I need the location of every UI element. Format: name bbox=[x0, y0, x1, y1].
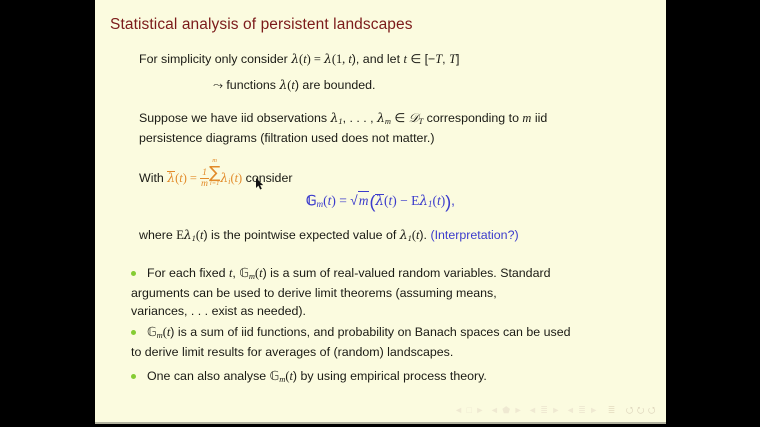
nav-prev-frame-button[interactable]: ◄ ⬟ ► bbox=[490, 405, 523, 416]
text-segment: ) is the pointwise expected value of bbox=[203, 228, 399, 242]
text-segment: to derive limit results for averages of … bbox=[131, 345, 453, 359]
text-segment: functions bbox=[223, 78, 279, 92]
beamer-navigation-bar[interactable]: ◄ □ ►◄ ⬟ ►◄ ≣ ►◄ ≣ ►≣⭯ ⭮ ⭯ bbox=[95, 403, 666, 419]
lambda-bar-symbol: λ bbox=[167, 171, 175, 184]
text-segment: ) are bounded. bbox=[295, 78, 376, 92]
text-segment: , . . . , bbox=[343, 111, 377, 125]
list-item: 𝔾m(t) is a sum of iid functions, and pro… bbox=[131, 324, 646, 362]
bullet-dot-icon bbox=[131, 271, 136, 276]
text-segment: where bbox=[139, 228, 176, 242]
list-item: One can also analyse 𝔾m(t) by using empi… bbox=[131, 368, 646, 388]
text-segment: (1, bbox=[332, 52, 349, 66]
text-segment: ) is a sum of real-valued random variabl… bbox=[263, 266, 551, 280]
nav-back-button[interactable]: ◄ ≣ ► bbox=[528, 405, 561, 416]
slide-bottom-divider bbox=[95, 422, 666, 424]
text-segment: ) is a sum of iid functions, and probabi… bbox=[170, 325, 570, 339]
mean-landscape-formula: λ(t) = 1mm∑i=1λi(t) bbox=[167, 171, 242, 185]
lambda-symbol: λ bbox=[324, 51, 332, 66]
fraction-one-over-m: 1m bbox=[200, 168, 209, 189]
square-root: √m bbox=[350, 191, 369, 209]
paragraph-observations: Suppose we have iid observations λ1, . .… bbox=[139, 109, 639, 147]
slide-viewer: Statistical analysis of persistent lands… bbox=[0, 0, 760, 427]
paragraph-simplicity: For simplicity only consider λ(t) = λ(1,… bbox=[139, 50, 639, 68]
lambda-symbol: λ bbox=[419, 193, 428, 209]
lambda-symbol: λ bbox=[291, 51, 299, 66]
display-equation-Gm: 𝔾m(t) = √m(λ(t) − Eλ1(t)), bbox=[95, 191, 666, 213]
list-item-text: For each fixed t, 𝔾m(t) is a sum of real… bbox=[131, 265, 641, 320]
nav-forward-button[interactable]: ◄ ≣ ► bbox=[566, 405, 599, 416]
text-segment: ∈ bbox=[391, 111, 409, 125]
squiggly-arrow-icon: ⤳ bbox=[213, 78, 223, 92]
text-segment: ) − bbox=[392, 193, 411, 208]
text-segment: ) = bbox=[307, 52, 324, 66]
lambda-symbol: λ bbox=[400, 227, 408, 242]
text-segment: persistence diagrams (filtration used do… bbox=[139, 131, 434, 145]
list-item-text: One can also analyse 𝔾m(t) by using empi… bbox=[131, 368, 646, 388]
nav-search-button[interactable]: ⭯ ⭮ ⭯ bbox=[626, 403, 656, 419]
list-item: For each fixed t, 𝔾m(t) is a sum of real… bbox=[131, 265, 641, 320]
blackboard-G-symbol: 𝔾 bbox=[306, 193, 316, 208]
lambda-symbol: λ bbox=[220, 170, 228, 185]
text-segment: ) by using empirical process theory. bbox=[293, 369, 487, 383]
diagram-space-symbol: 𝒟 bbox=[409, 111, 419, 125]
text-segment: With bbox=[139, 171, 167, 185]
text-segment: ] bbox=[456, 52, 459, 66]
interpretation-note: (Interpretation?) bbox=[430, 228, 518, 242]
text-segment: For each fixed bbox=[131, 266, 229, 280]
paragraph-expected-value: where Eλ1(t) is the pointwise expected v… bbox=[139, 226, 659, 247]
mouse-cursor-icon bbox=[256, 178, 264, 190]
page-title: Statistical analysis of persistent lands… bbox=[110, 16, 413, 34]
text-segment: ) = bbox=[331, 193, 350, 208]
presentation-slide: Statistical analysis of persistent lands… bbox=[95, 0, 666, 423]
text-segment: ) = bbox=[183, 171, 200, 185]
text-segment: arguments can be used to derive limit th… bbox=[131, 286, 497, 300]
paragraph-with-mean: With λ(t) = 1mm∑i=1λi(t) consider bbox=[139, 158, 292, 190]
text-segment: consider bbox=[242, 171, 292, 185]
expectation-operator: E bbox=[176, 228, 184, 242]
nav-doc-button[interactable]: ≣ bbox=[608, 405, 616, 416]
lambda-symbol: λ bbox=[377, 110, 385, 125]
blackboard-G-symbol: 𝔾 bbox=[239, 266, 249, 280]
text-segment: variances, . . . exist as needed). bbox=[131, 304, 306, 318]
bullet-dot-icon bbox=[131, 374, 136, 379]
text-segment: iid bbox=[531, 111, 547, 125]
nav-first-slide-button[interactable]: ◄ □ ► bbox=[454, 405, 485, 415]
text-segment: ), and let bbox=[352, 52, 404, 66]
lambda-bar-symbol: λ bbox=[375, 194, 384, 209]
bullet-dot-icon bbox=[131, 330, 136, 335]
list-item-text: 𝔾m(t) is a sum of iid functions, and pro… bbox=[131, 324, 646, 362]
text-segment: Suppose we have iid observations bbox=[139, 111, 331, 125]
text-segment: ∈ [− bbox=[407, 52, 435, 66]
lambda-symbol: λ bbox=[184, 227, 192, 242]
text-segment: corresponding to bbox=[423, 111, 522, 125]
summation-operator: m∑i=1 bbox=[209, 158, 220, 187]
blackboard-G-symbol: 𝔾 bbox=[270, 369, 280, 383]
text-segment: , bbox=[451, 193, 455, 208]
variable-T: T bbox=[449, 52, 456, 66]
text-segment: ). bbox=[419, 228, 430, 242]
paragraph-bounded: ⤳ functions λ(t) are bounded. bbox=[213, 76, 375, 94]
text-segment: For simplicity only consider bbox=[139, 52, 291, 66]
text-segment: One can also analyse bbox=[131, 369, 270, 383]
